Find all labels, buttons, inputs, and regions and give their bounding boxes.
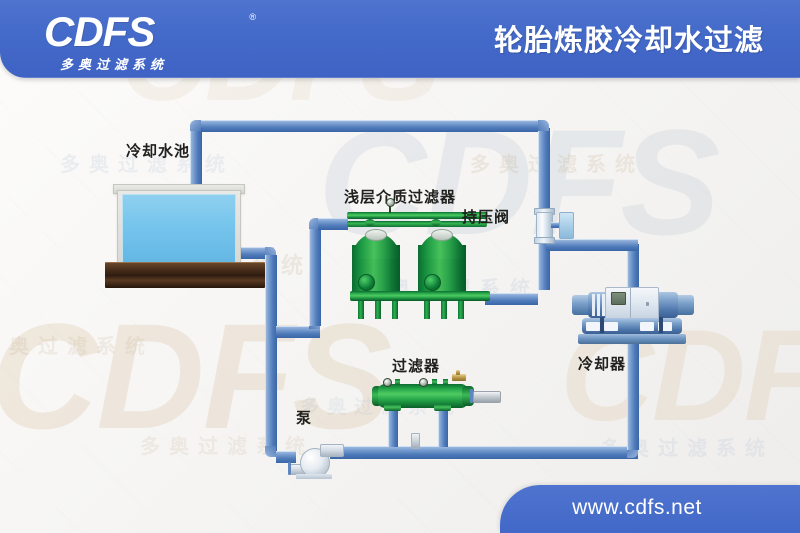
filter-vent-nozzle: [443, 379, 448, 385]
logo-subtitle: 多奥过滤系统: [60, 54, 168, 73]
pipe-left-vertical: [265, 255, 277, 451]
cabinet-door-split: [630, 287, 631, 320]
watermark-cn: 多奥过滤系统: [0, 330, 154, 359]
pipe-media-inlet-riser: [309, 226, 321, 326]
chiller-display-screen[interactable]: [611, 292, 626, 305]
pipe-top-horizontal: [198, 120, 546, 132]
chiller-panel-plate: [604, 322, 618, 331]
filter-outlet-flange: [470, 389, 473, 403]
tank-leg: [358, 299, 364, 319]
page-footer: www.cdfs.net: [500, 485, 800, 533]
filter-outlet-spool: [473, 391, 501, 403]
filter-vent-nozzle: [395, 379, 400, 385]
watermark-cdfs: CDFS: [0, 290, 390, 463]
tank-manway-icon: [431, 229, 453, 241]
filter-vent-nozzle: [432, 379, 437, 385]
chiller-foot: [600, 317, 604, 333]
media-bottom-manifold: [350, 291, 490, 301]
tank-leg: [424, 299, 430, 319]
label-shallow-media-filter: 浅层介质过滤器: [344, 186, 456, 207]
pipe-valve-to-chiller: [546, 239, 638, 251]
diagram-canvas: CDFS CDFS CDFS CDFS 多奥过滤系统 多奥过滤系统 多奥过滤系统…: [0, 0, 800, 533]
watermark-cn: 多奥过滤系统: [470, 148, 644, 177]
media-manifold-nozzle: [365, 219, 375, 226]
filter-gauge-icon: [419, 378, 428, 387]
chiller-base-skid: [578, 334, 686, 344]
label-filter: 过滤器: [392, 355, 440, 376]
filter-brass-valve[interactable]: [452, 374, 466, 381]
pipe-elbow-bottom-left: [265, 446, 276, 457]
pipe-filter-leg-left: [388, 405, 398, 447]
pipe-media-outlet: [485, 293, 538, 305]
tank-leg: [458, 299, 464, 319]
chiller-fin: [597, 294, 600, 316]
cabinet-handle[interactable]: [646, 302, 649, 306]
pump-discharge-nozzle: [320, 444, 344, 457]
tank-sight-port: [358, 274, 375, 291]
pipe-bottom-header: [330, 446, 638, 459]
valve-flange-bottom: [534, 237, 555, 244]
chiller-foot: [659, 317, 663, 333]
filter-nozzle-flange-left: [384, 404, 401, 411]
tank-leg: [375, 299, 381, 319]
pipe-filter-leg-right: [438, 405, 448, 447]
website-url[interactable]: www.cdfs.net: [500, 496, 774, 520]
tank-leg: [392, 299, 398, 319]
filter-drain-stub: [411, 433, 420, 449]
chiller-panel-plate: [640, 322, 654, 331]
pump-suction-flange: [288, 462, 291, 475]
page-header: CDFS ® 多奥过滤系统 轮胎炼胶冷却水过滤: [0, 0, 800, 78]
label-cooling-pool: 冷却水池: [126, 140, 190, 161]
pipe-elbow-top-left: [190, 120, 201, 131]
filter-nozzle-flange-right: [434, 404, 451, 411]
pipe-pump-suction: [276, 451, 296, 463]
pipe-right-riser-upper: [538, 128, 550, 218]
registered-mark-icon: ®: [249, 12, 256, 22]
media-tank-left: [352, 233, 400, 299]
media-manifold-nozzle: [431, 219, 441, 226]
brand-logo[interactable]: CDFS ® 多奥过滤系统: [44, 10, 264, 72]
label-cooler: 冷却器: [578, 353, 626, 374]
tank-manway-icon: [365, 229, 387, 241]
tank-leg: [441, 299, 447, 319]
chiller-panel-plate: [586, 322, 600, 331]
media-pressure-gauge-icon: [386, 198, 395, 207]
label-pump: 泵: [296, 407, 312, 428]
tank-sight-port: [424, 274, 441, 291]
filter-brass-stem: [456, 370, 460, 375]
valve-actuator[interactable]: [559, 212, 574, 239]
filter-gauge-icon: [383, 378, 392, 387]
pool-water-surface: [122, 194, 236, 268]
pipe-media-inlet: [318, 218, 348, 230]
page-title: 轮胎炼胶冷却水过滤: [494, 17, 764, 59]
ground-strip: [105, 262, 265, 288]
pipe-elbow-top-right: [538, 120, 549, 131]
chiller-fin: [592, 294, 595, 316]
pump-baseplate: [296, 474, 332, 479]
media-tank-right: [418, 233, 466, 299]
logo-text: CDFS: [44, 10, 264, 54]
label-pressure-valve: 持压阀: [462, 206, 510, 227]
